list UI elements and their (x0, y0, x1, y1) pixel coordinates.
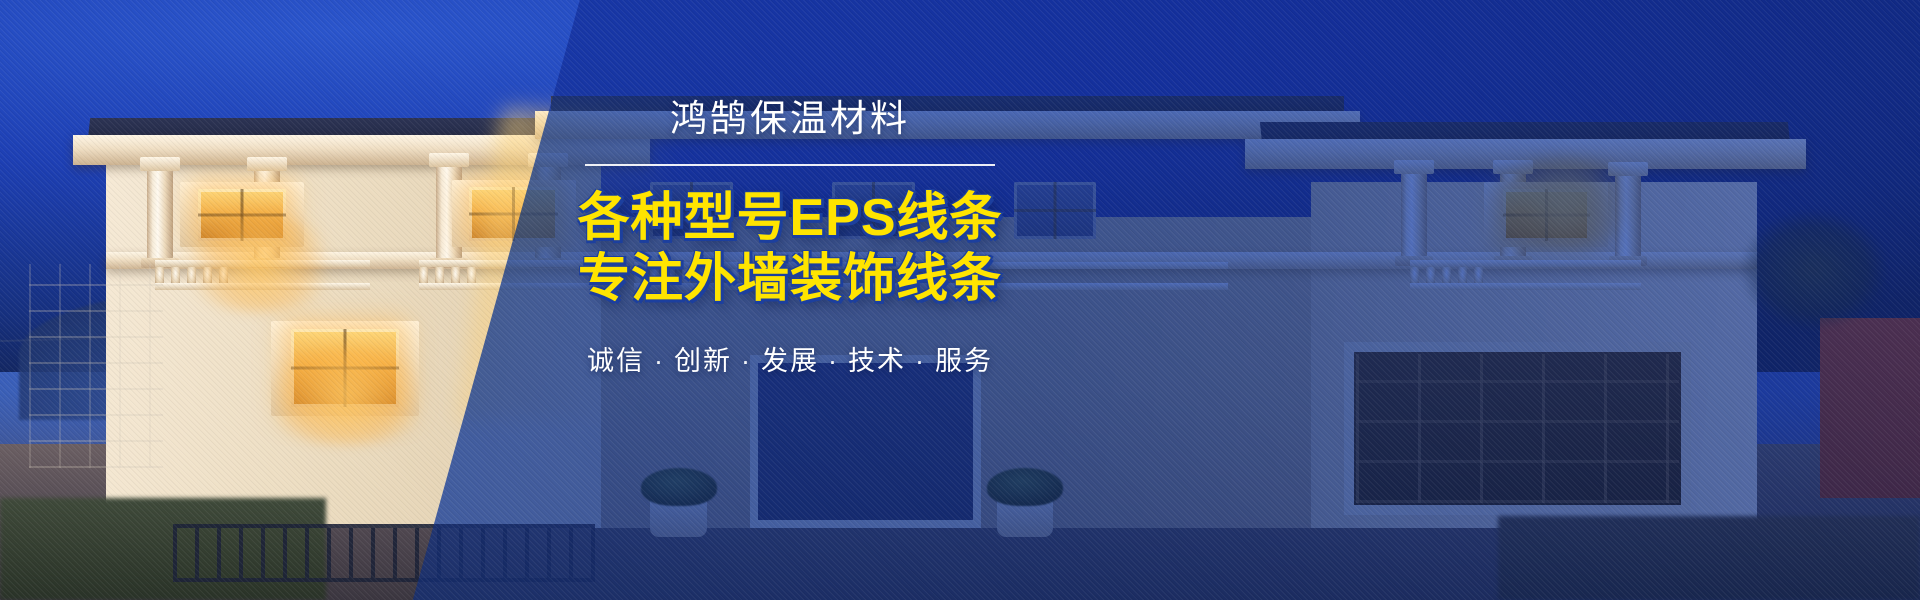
window-left-lower (291, 329, 400, 407)
tagline-item: 诚信 (587, 346, 645, 376)
headline: 各种型号EPS线条 专注外墙装饰线条 (555, 188, 1025, 309)
balustrade-rail-bottom (155, 283, 370, 290)
window-mullion-grid (291, 329, 400, 407)
balustrade-rail-top (155, 260, 370, 267)
tagline-item: 发展 (761, 346, 819, 376)
headline-line-2: 专注外墙装饰线条 (555, 249, 1025, 309)
window-mullion-grid (198, 189, 286, 241)
tagline-item: 服务 (935, 346, 993, 376)
window-left-upper (198, 189, 286, 241)
hero-banner: 鸿鹄保温材料 各种型号EPS线条 专注外墙装饰线条 诚信·创新·发展·技术·服务 (0, 0, 1920, 600)
balustrade-left (155, 260, 370, 290)
divider-rule (585, 164, 995, 166)
tagline-separator: · (654, 346, 665, 376)
tagline-separator: · (828, 346, 839, 376)
banner-text-block: 鸿鹄保温材料 各种型号EPS线条 专注外墙装饰线条 诚信·创新·发展·技术·服务 (555, 96, 1025, 378)
brand-name: 鸿鹄保温材料 (555, 96, 1025, 142)
tagline-separator: · (741, 346, 752, 376)
column-left-1 (147, 169, 173, 260)
tagline-separator: · (915, 346, 926, 376)
tagline: 诚信·创新·发展·技术·服务 (555, 339, 1025, 378)
tagline-item: 创新 (674, 346, 732, 376)
tagline-item: 技术 (848, 346, 906, 376)
headline-line-1: 各种型号EPS线条 (555, 188, 1025, 248)
left-scaffolding (29, 264, 163, 468)
